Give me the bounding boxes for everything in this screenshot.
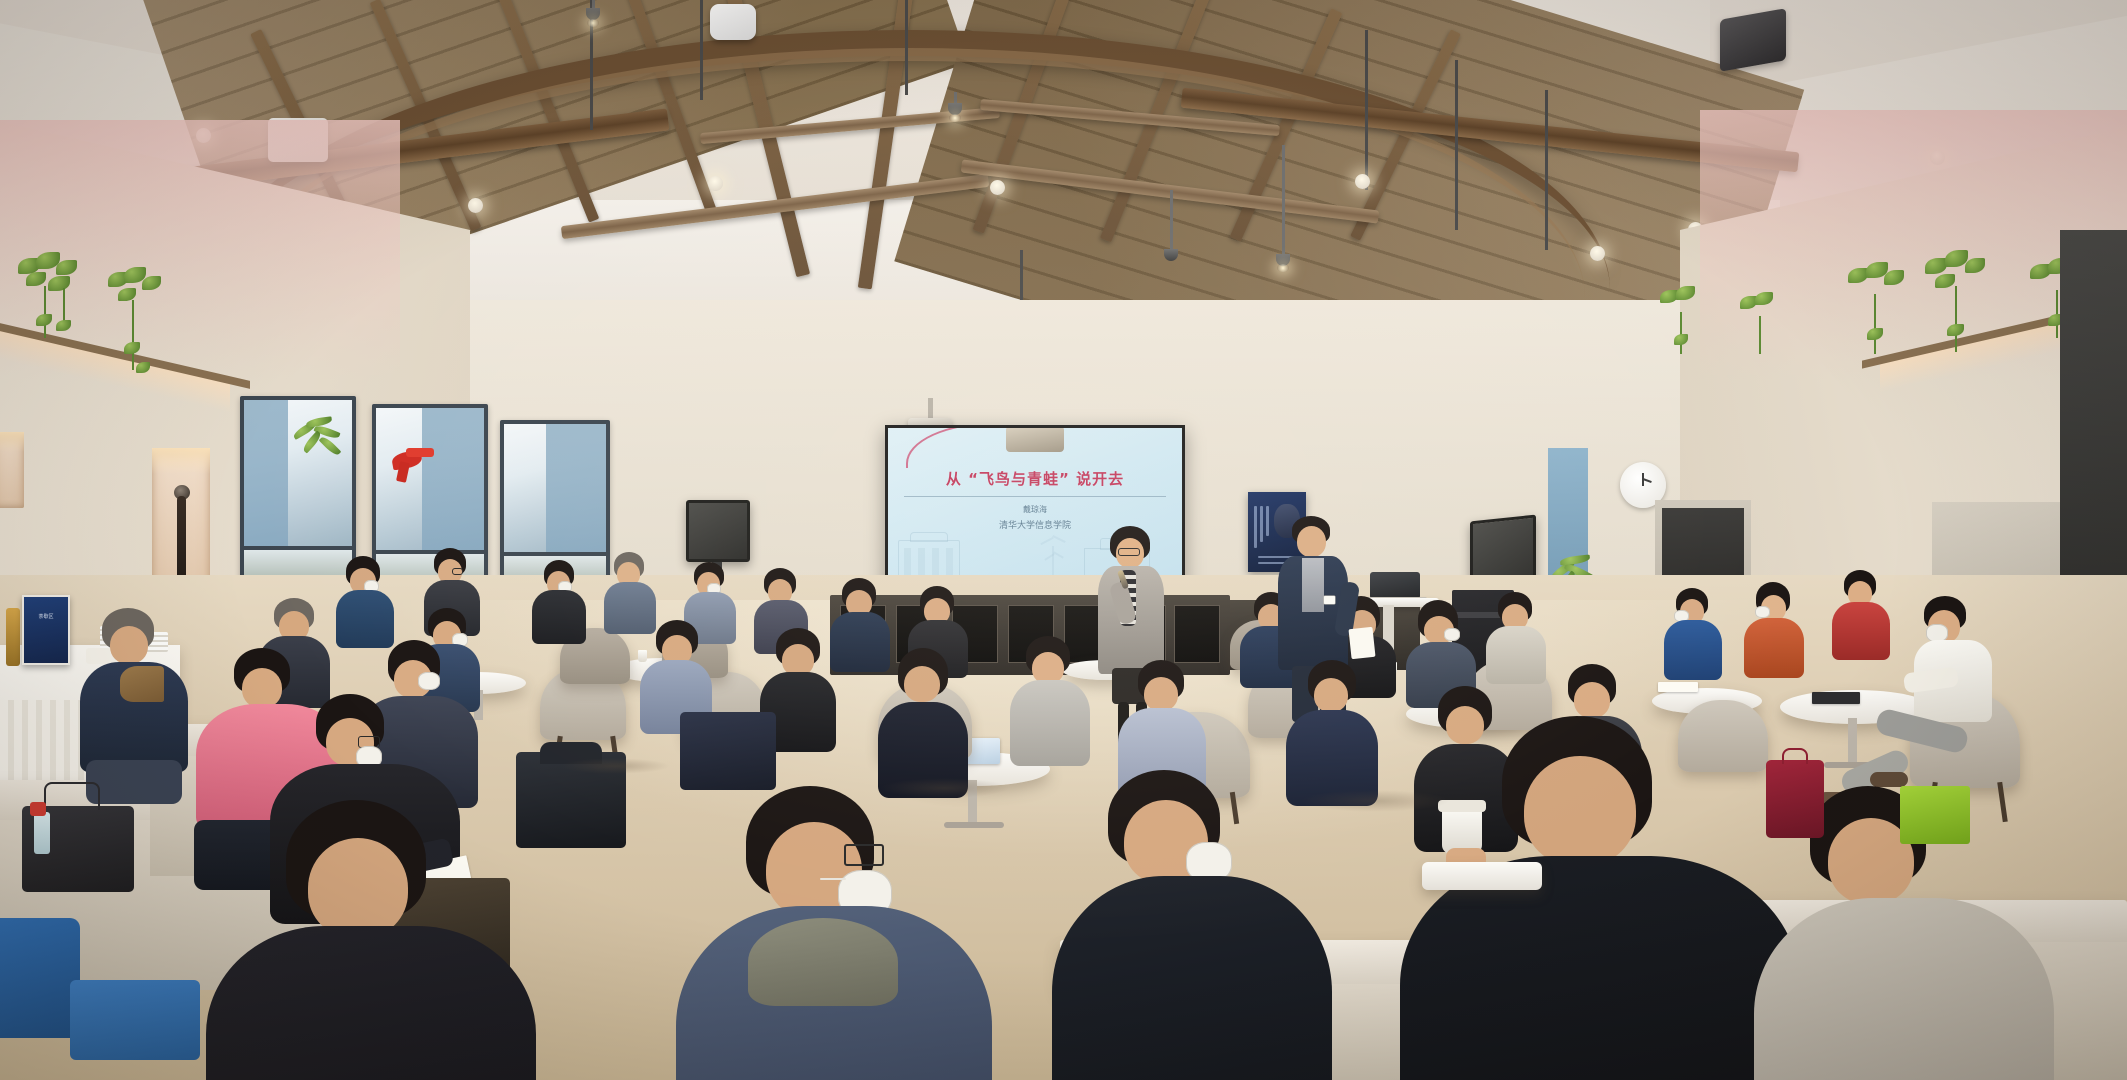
hood (748, 918, 898, 1006)
niche-light (0, 432, 24, 452)
laptop-icon (1370, 572, 1420, 599)
pendant-glow (1277, 264, 1289, 272)
slide-watermark-tree (1040, 537, 1053, 545)
wall-tv-left (686, 500, 750, 562)
paper-handout (1348, 627, 1375, 659)
slide-watermark-tree (1053, 551, 1064, 558)
recessed-light (1355, 174, 1370, 189)
projector-mount (928, 398, 933, 420)
pendant-rod (1170, 190, 1173, 250)
slide-projector-photo (1006, 428, 1064, 452)
closed-laptop (1812, 692, 1860, 704)
blue-chair-seat (70, 980, 200, 1060)
red-backpack (1766, 760, 1824, 838)
water-bottle (34, 812, 50, 854)
hanger-rod (1365, 30, 1368, 190)
shadow (560, 758, 670, 774)
backpack (680, 712, 776, 790)
paper-cup (638, 650, 647, 662)
hanger-rod (1545, 90, 1548, 250)
recessed-light (708, 176, 723, 191)
table-foot (944, 822, 1004, 828)
blue-chair (0, 918, 80, 1038)
side-table (1422, 862, 1542, 890)
refreshment-sign: 茶歇区 (22, 595, 70, 665)
hanger-rod (1455, 60, 1458, 230)
shadow (1300, 790, 1450, 812)
notebook (1658, 682, 1698, 692)
recessed-light (468, 198, 483, 213)
trousers (86, 760, 182, 804)
slide-title: 从 “飞鸟与青蛙” 说开去 (888, 468, 1182, 489)
bag-handle (1782, 748, 1808, 764)
pendant-rod (592, 0, 595, 8)
shoe (1870, 772, 1908, 787)
tub-chair (1678, 700, 1768, 772)
pendant-rod (1282, 145, 1285, 255)
recessed-light (1590, 246, 1605, 261)
slide-divider (904, 496, 1166, 497)
hanger-rod (700, 0, 703, 100)
table-stem (1848, 718, 1857, 766)
pendant-glow (587, 19, 599, 27)
green-tote (1900, 786, 1970, 844)
shirt (1302, 558, 1324, 612)
hanger-rod (905, 0, 908, 95)
wifi-ap-icon (710, 4, 756, 40)
recessed-light (990, 180, 1005, 195)
slide-watermark (910, 532, 948, 542)
red-decoration (406, 448, 434, 457)
slide-watermark-tree (1052, 535, 1065, 543)
pendant-glow (949, 114, 961, 122)
shadow (880, 778, 1010, 798)
gold-stand (6, 608, 20, 666)
name-badge (1324, 596, 1335, 604)
slide-author: 戴琼海 (888, 504, 1182, 515)
lecture-hall-photo: 从 “飞鸟与青蛙” 说开去 戴琼海 清华大学信息学院 (0, 0, 2127, 1080)
niche-light (152, 448, 210, 474)
bottle-cap (30, 802, 46, 816)
shoulder-patch (120, 666, 164, 702)
bag-handle (44, 782, 100, 810)
